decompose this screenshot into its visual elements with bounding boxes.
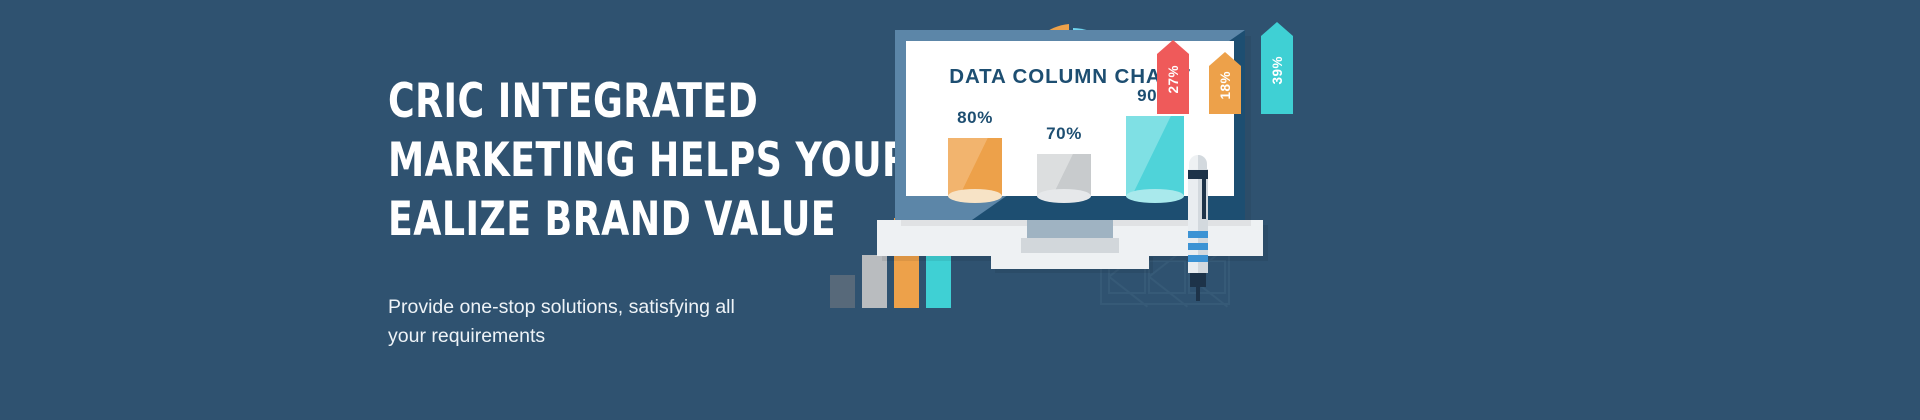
subtitle-line-1: Provide one-stop solutions, satisfying a… bbox=[388, 293, 788, 322]
monitor-base bbox=[991, 253, 1149, 269]
illustration: DATA COLUMN CHART 80% 70% bbox=[1000, 0, 1920, 420]
chart-column-label: 70% bbox=[1046, 124, 1082, 144]
marketing-banner: CRIC INTEGRATED MARKETING HELPS YOUR EAL… bbox=[0, 0, 1920, 420]
page-title: CRIC INTEGRATED MARKETING HELPS YOUR EAL… bbox=[388, 72, 835, 249]
chart-column: 70% bbox=[1037, 154, 1091, 196]
ribbon-label: 18% bbox=[1218, 67, 1233, 100]
chart-column-label: 80% bbox=[957, 108, 993, 128]
ribbon-marker: 18% bbox=[1209, 52, 1241, 114]
ribbon-label: 27% bbox=[1166, 61, 1181, 94]
mini-bar bbox=[830, 275, 855, 308]
mini-bar bbox=[862, 255, 887, 308]
ribbon-marker: 27% bbox=[1157, 40, 1189, 114]
subtitle: Provide one-stop solutions, satisfying a… bbox=[388, 293, 788, 351]
headline-line-2: MARKETING HELPS YOUR bbox=[388, 131, 835, 190]
subtitle-line-2: your requirements bbox=[388, 322, 788, 351]
copy-block: CRIC INTEGRATED MARKETING HELPS YOUR EAL… bbox=[388, 72, 908, 351]
chart-column: 80% bbox=[948, 138, 1002, 196]
ribbon-marker-group: 27% 18% 39% bbox=[1157, 14, 1307, 114]
headline-line-3: EALIZE BRAND VALUE bbox=[388, 190, 835, 249]
chart-column: 90% bbox=[1126, 116, 1184, 196]
stylus-pen-icon bbox=[1185, 155, 1211, 301]
ribbon-label: 39% bbox=[1270, 52, 1285, 85]
headline-line-1: CRIC INTEGRATED bbox=[388, 72, 835, 131]
ribbon-marker: 39% bbox=[1261, 22, 1293, 114]
